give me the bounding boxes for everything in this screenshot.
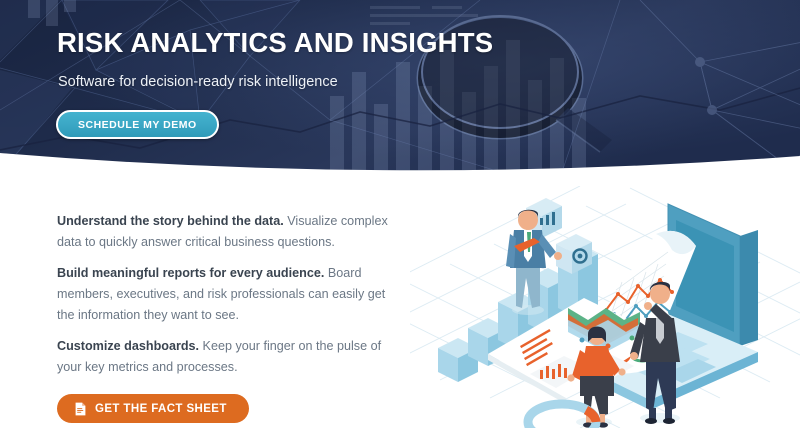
paragraph-2-lead: Build meaningful reports for every audie… — [57, 266, 324, 280]
document-icon — [75, 402, 86, 416]
paragraph-3: Customize dashboards. Keep your finger o… — [57, 336, 397, 378]
get-fact-sheet-button[interactable]: GET THE FACT SHEET — [57, 394, 249, 423]
get-fact-sheet-label: GET THE FACT SHEET — [95, 403, 227, 415]
schedule-demo-button[interactable]: SCHEDULE MY DEMO — [56, 110, 219, 139]
paragraph-1: Understand the story behind the data. Vi… — [57, 211, 397, 253]
schedule-demo-label: SCHEDULE MY DEMO — [78, 119, 197, 131]
isometric-data-analytics-illustration — [410, 186, 800, 428]
landing-page: RISK ANALYTICS AND INSIGHTS Software for… — [0, 0, 800, 428]
paragraph-3-lead: Customize dashboards. — [57, 339, 199, 353]
paragraph-1-lead: Understand the story behind the data. — [57, 214, 284, 228]
page-title: RISK ANALYTICS AND INSIGHTS — [57, 27, 493, 59]
hero-section: RISK ANALYTICS AND INSIGHTS Software for… — [0, 0, 800, 178]
hero-subtitle: Software for decision-ready risk intelli… — [58, 74, 338, 90]
paragraph-2: Build meaningful reports for every audie… — [57, 263, 397, 326]
illustration-svg — [410, 186, 800, 428]
